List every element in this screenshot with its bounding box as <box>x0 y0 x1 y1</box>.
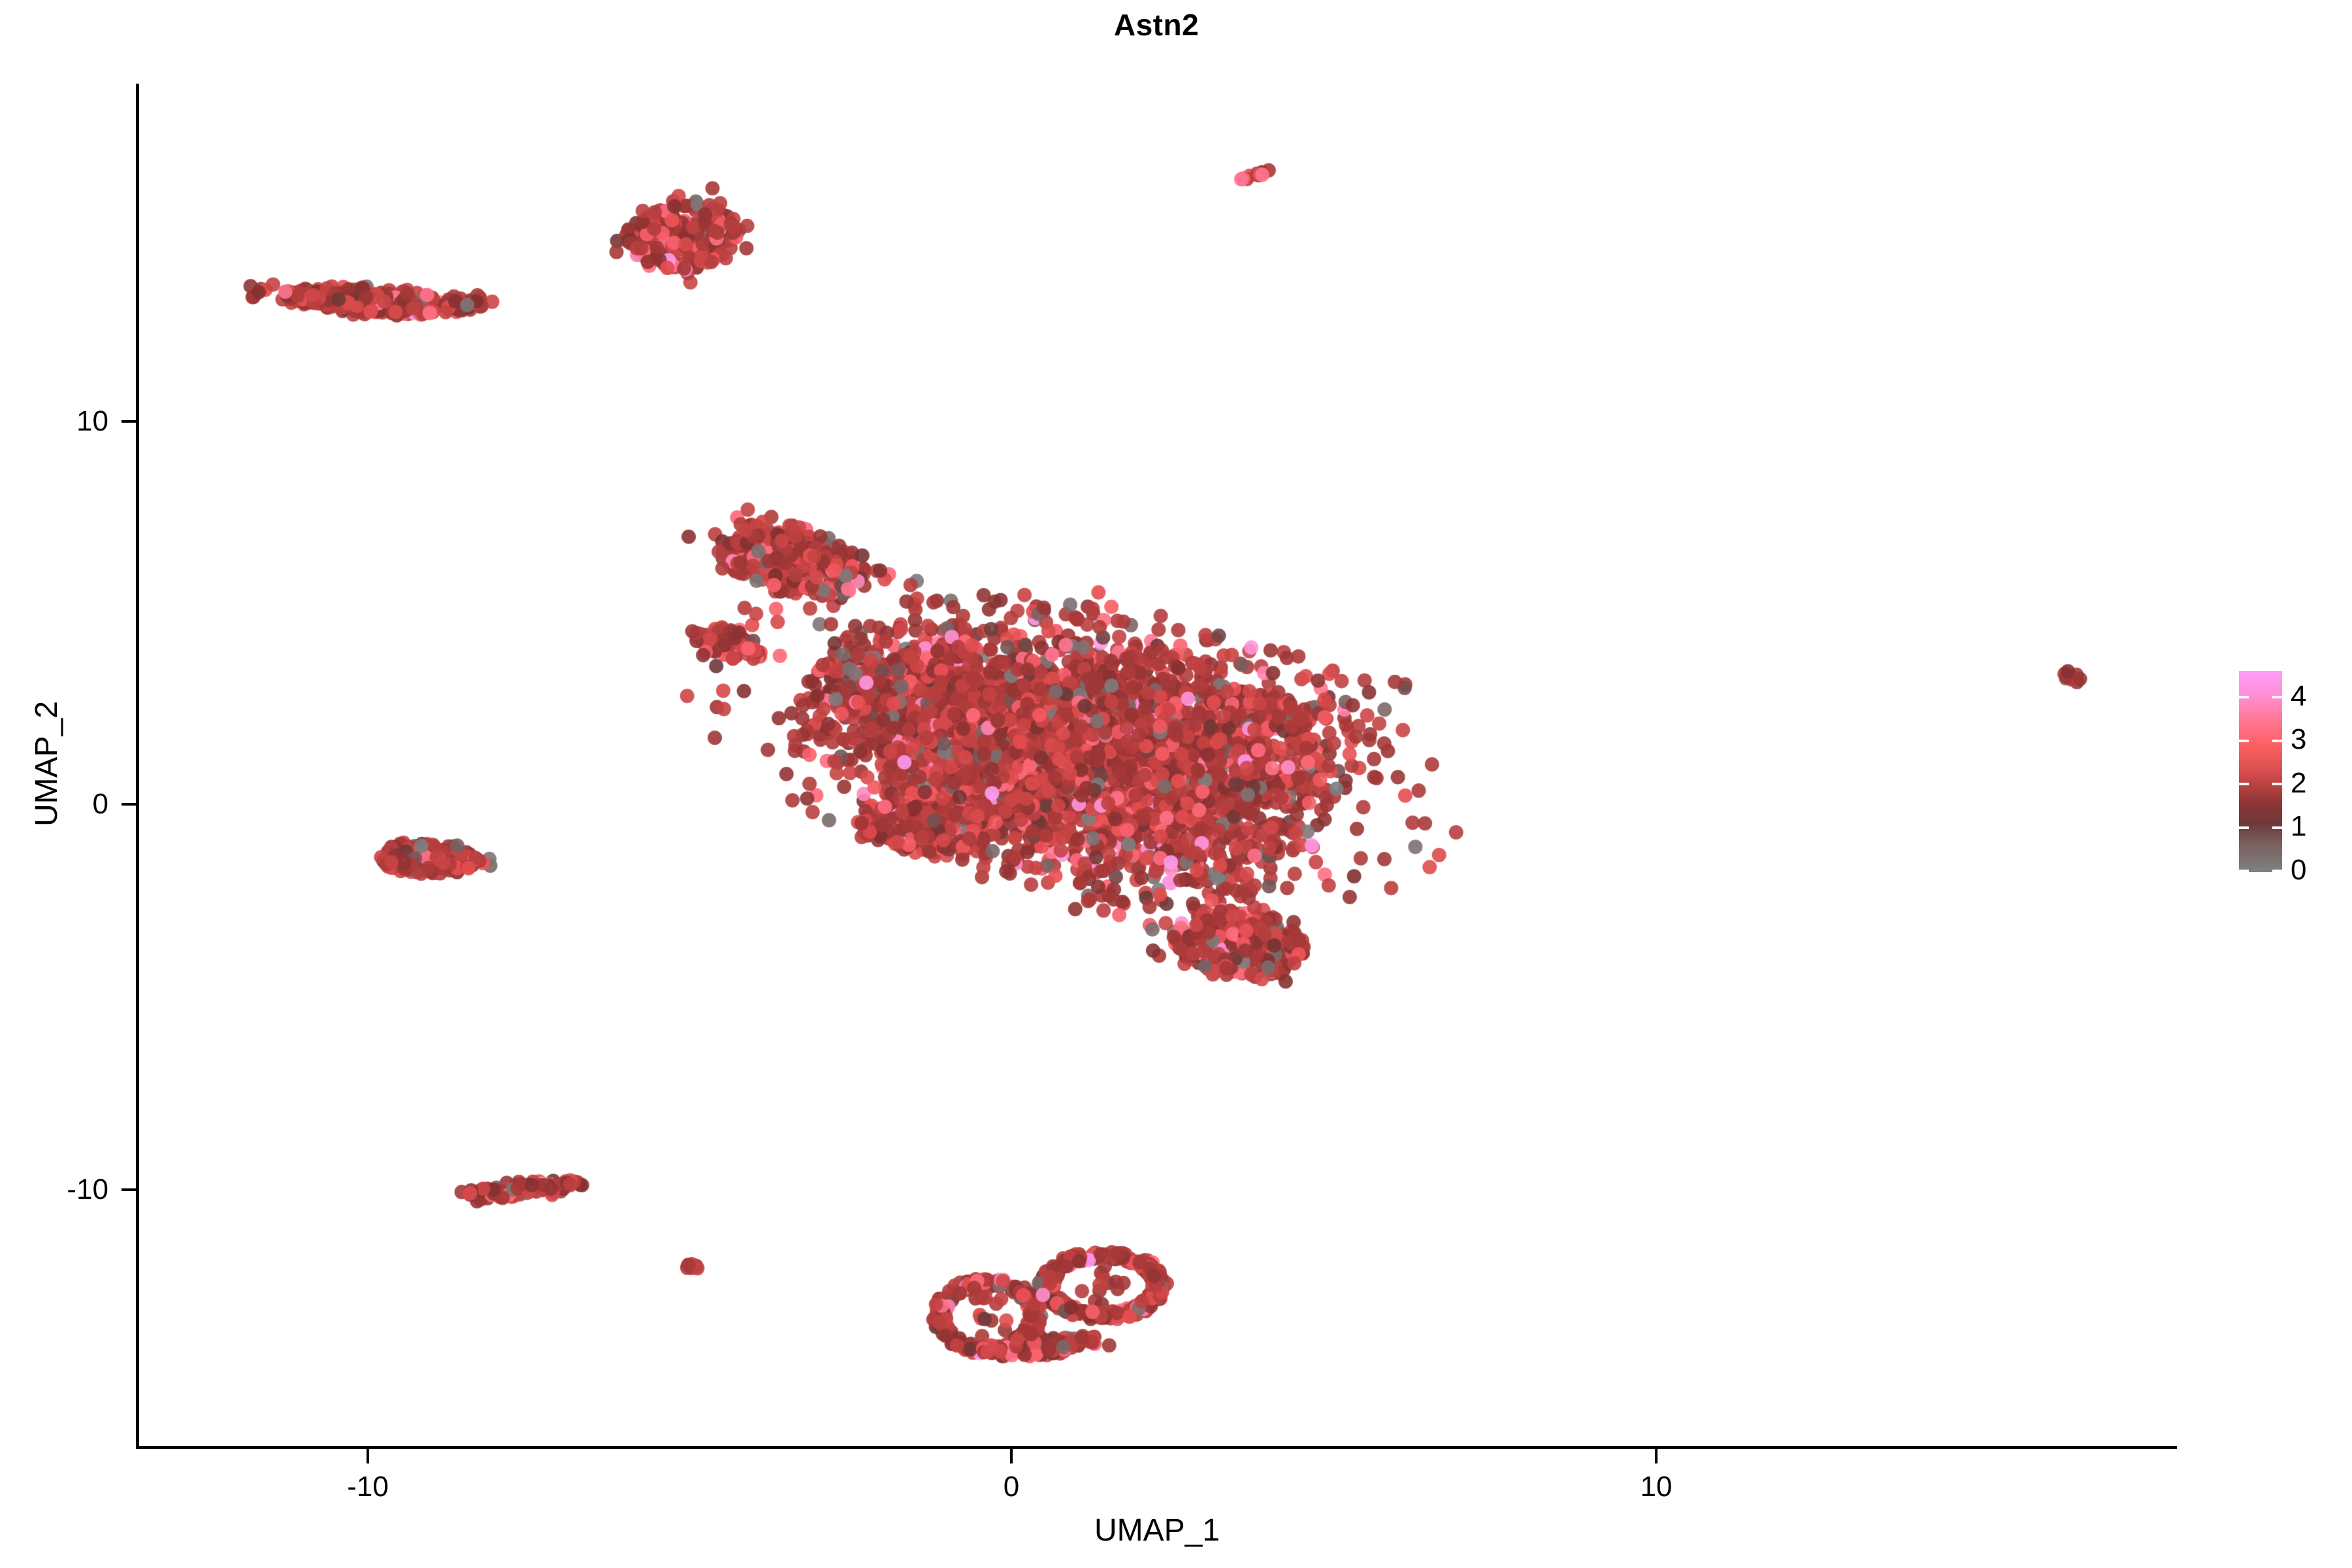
colorbar-tick-right-0 <box>2272 870 2282 872</box>
y-tick-label-2: -10 <box>0 1171 108 1208</box>
colorbar-tick-left-2 <box>2239 783 2249 785</box>
x-tick-label-0: -10 <box>289 1469 446 1505</box>
colorbar-tick-left-3 <box>2239 740 2249 742</box>
colorbar-tick-left-1 <box>2239 826 2249 829</box>
y-tick-mark-2 <box>122 1188 136 1191</box>
colorbar-tick-right-4 <box>2272 696 2282 698</box>
colorbar-label-0: 0 <box>2291 856 2330 885</box>
colorbar-tick-right-3 <box>2272 740 2282 742</box>
colorbar-label-1: 1 <box>2291 812 2330 841</box>
scatter-points-canvas <box>137 84 2177 1448</box>
colorbar-tick-right-2 <box>2272 783 2282 785</box>
colorbar-legend: 4 3 2 1 0 <box>2237 666 2348 882</box>
colorbar-tick-left-4 <box>2239 696 2249 698</box>
y-tick-mark-1 <box>122 803 136 806</box>
x-tick-mark-0 <box>367 1449 369 1463</box>
x-tick-label-1: 0 <box>933 1469 1090 1505</box>
y-tick-label-0: 10 <box>0 403 108 440</box>
y-axis-line <box>136 84 139 1449</box>
x-axis-line <box>136 1446 2177 1449</box>
y-tick-mark-0 <box>122 420 136 423</box>
x-tick-mark-2 <box>1655 1449 1658 1463</box>
y-axis-title: UMAP_2 <box>29 535 65 992</box>
x-tick-label-2: 10 <box>1578 1469 1735 1505</box>
colorbar-tick-right-1 <box>2272 826 2282 829</box>
plot-panel <box>137 84 2177 1448</box>
x-tick-mark-1 <box>1010 1449 1013 1463</box>
x-axis-title: UMAP_1 <box>137 1512 2177 1548</box>
page-title: Astn2 <box>137 5 2176 44</box>
colorbar-label-2: 2 <box>2291 769 2330 798</box>
colorbar-label-3: 3 <box>2291 725 2330 754</box>
umap-feature-plot: Astn2 -10 0 10 10 0 -10 UMAP_1 UMAP_2 4 … <box>0 0 2352 1568</box>
colorbar-gradient <box>2239 671 2282 872</box>
colorbar-label-4: 4 <box>2291 682 2330 711</box>
colorbar-tick-left-0 <box>2239 870 2249 872</box>
